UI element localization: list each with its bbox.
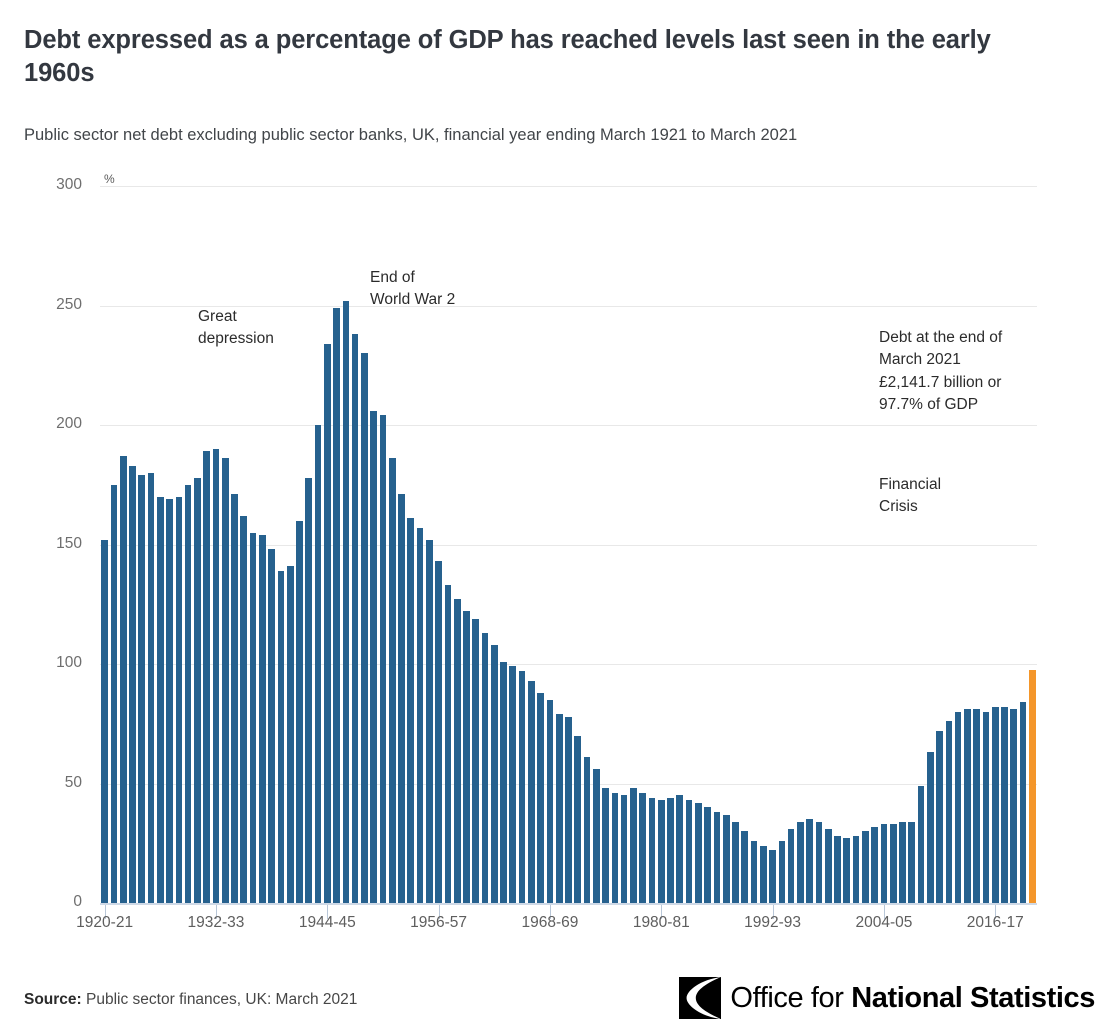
bar-1938-39[interactable] (268, 549, 275, 903)
chart-plot: % 050100150200250300 1920-211932-331944-… (0, 0, 1117, 945)
ons-logo-text: Office for National Statistics (730, 982, 1095, 1015)
bar-1954-55[interactable] (417, 528, 424, 903)
bar-2009-10[interactable] (927, 752, 934, 903)
bar-1951-52[interactable] (389, 458, 396, 903)
bar-1956-57[interactable] (435, 561, 442, 903)
bar-2019-20[interactable] (1020, 702, 1027, 903)
bar-1932-33[interactable] (213, 449, 220, 903)
ons-logo: Office for National Statistics (679, 977, 1095, 1019)
bar-2007-08[interactable] (908, 822, 915, 903)
bar-1963-64[interactable] (500, 662, 507, 903)
bar-1936-37[interactable] (250, 533, 257, 903)
x-axis-tick-1944-45: 1944-45 (299, 914, 356, 932)
annotation-financial-crisis: Financial Crisis (879, 474, 941, 519)
bar-1968-69[interactable] (547, 700, 554, 903)
bar-1977-78[interactable] (630, 788, 637, 903)
bar-1999-00[interactable] (834, 836, 841, 903)
annotation-debt-at-end-of-march-2021: Debt at the end of March 2021 £2,141.7 b… (879, 327, 1002, 417)
bar-1948-49[interactable] (361, 353, 368, 903)
bar-1986-87[interactable] (714, 812, 721, 903)
bar-2005-06[interactable] (890, 824, 897, 903)
bar-1983-84[interactable] (686, 800, 693, 903)
bar-1962-63[interactable] (491, 645, 498, 903)
bar-1927-28[interactable] (166, 499, 173, 903)
y-axis-unit-label: % (104, 172, 115, 186)
bar-1996-97[interactable] (806, 819, 813, 903)
bar-1955-56[interactable] (426, 540, 433, 903)
x-axis-tick-2004-05: 2004-05 (855, 914, 912, 932)
bar-1928-29[interactable] (176, 497, 183, 903)
bar-1926-27[interactable] (157, 497, 164, 903)
bar-1994-95[interactable] (788, 829, 795, 903)
bar-1947-48[interactable] (352, 334, 359, 903)
bar-1965-66[interactable] (519, 671, 526, 903)
bar-1933-34[interactable] (222, 458, 229, 903)
bar-1984-85[interactable] (695, 803, 702, 903)
bar-1979-80[interactable] (649, 798, 656, 903)
bar-1942-43[interactable] (305, 478, 312, 903)
bar-1966-67[interactable] (528, 681, 535, 903)
bar-1925-26[interactable] (148, 473, 155, 903)
bar-1934-35[interactable] (231, 494, 238, 903)
bar-1950-51[interactable] (380, 415, 387, 903)
bar-2011-12[interactable] (946, 721, 953, 903)
chart-page: Debt expressed as a percentage of GDP ha… (0, 0, 1117, 1028)
bar-1972-73[interactable] (584, 757, 591, 903)
x-axis-line (100, 903, 1037, 905)
y-axis-tick-200: 200 (24, 415, 82, 433)
bar-2014-15[interactable] (973, 709, 980, 903)
y-axis-tick-50: 50 (24, 774, 82, 792)
bar-1961-62[interactable] (482, 633, 489, 903)
bar-2020-21[interactable] (1029, 670, 1036, 904)
bar-2002-03[interactable] (862, 831, 869, 903)
bar-1960-61[interactable] (472, 619, 479, 903)
y-axis-tick-0: 0 (24, 893, 82, 911)
source-text: Public sector finances, UK: March 2021 (82, 991, 358, 1008)
y-axis-tick-150: 150 (24, 535, 82, 553)
ons-logo-icon (679, 977, 721, 1019)
bar-1921-22[interactable] (111, 485, 118, 903)
x-axis-tick-1932-33: 1932-33 (188, 914, 245, 932)
bar-series (100, 186, 1037, 903)
bar-2010-11[interactable] (936, 731, 943, 903)
x-axis-tick-1956-57: 1956-57 (410, 914, 467, 932)
annotation-great-depression: Great depression (198, 306, 274, 351)
bar-1943-44[interactable] (315, 425, 322, 903)
bar-1923-24[interactable] (129, 466, 136, 903)
annotation-end-of-world-war-2: End of World War 2 (370, 267, 455, 312)
bar-1971-72[interactable] (574, 736, 581, 903)
bar-1987-88[interactable] (723, 815, 730, 903)
bar-1970-71[interactable] (565, 717, 572, 903)
bar-1940-41[interactable] (287, 566, 294, 903)
y-axis-tick-300: 300 (24, 176, 82, 194)
bar-1993-94[interactable] (779, 841, 786, 903)
bar-1992-93[interactable] (769, 850, 776, 903)
bar-2006-07[interactable] (899, 822, 906, 903)
bar-2003-04[interactable] (871, 827, 878, 903)
bar-1989-90[interactable] (741, 831, 748, 903)
bar-1935-36[interactable] (240, 516, 247, 903)
bar-2000-01[interactable] (843, 838, 850, 903)
bar-1939-40[interactable] (278, 571, 285, 903)
bar-1957-58[interactable] (445, 585, 452, 903)
bar-1969-70[interactable] (556, 714, 563, 903)
bar-1930-31[interactable] (194, 478, 201, 903)
bar-1981-82[interactable] (667, 798, 674, 903)
bar-1974-75[interactable] (602, 788, 609, 903)
chart-footer: Source: Public sector finances, UK: Marc… (0, 945, 1117, 1028)
x-axis-tick-1980-81: 1980-81 (633, 914, 690, 932)
ons-logo-text-light: Office for (730, 982, 851, 1014)
bar-1941-42[interactable] (296, 521, 303, 903)
x-axis-tick-1968-69: 1968-69 (521, 914, 578, 932)
plot-area (100, 186, 1037, 903)
bar-2012-13[interactable] (955, 712, 962, 903)
y-axis-tick-100: 100 (24, 654, 82, 672)
bar-2015-16[interactable] (983, 712, 990, 903)
bar-1924-25[interactable] (138, 475, 145, 903)
bar-2001-02[interactable] (853, 836, 860, 903)
bar-1990-91[interactable] (751, 841, 758, 903)
bar-2008-09[interactable] (918, 786, 925, 903)
bar-1997-98[interactable] (816, 822, 823, 903)
bar-1952-53[interactable] (398, 494, 405, 903)
bar-1964-65[interactable] (509, 666, 516, 903)
bar-1978-79[interactable] (639, 793, 646, 903)
source-label: Source: (24, 991, 82, 1008)
bar-1944-45[interactable] (324, 344, 331, 903)
source-line: Source: Public sector finances, UK: Marc… (24, 991, 357, 1009)
bar-1931-32[interactable] (203, 451, 210, 903)
bar-2017-18[interactable] (1001, 707, 1008, 903)
bar-2018-19[interactable] (1010, 709, 1017, 903)
bar-1937-38[interactable] (259, 535, 266, 903)
bar-1949-50[interactable] (370, 411, 377, 903)
bar-1998-99[interactable] (825, 829, 832, 903)
bar-1929-30[interactable] (185, 485, 192, 903)
bar-2016-17[interactable] (992, 707, 999, 903)
bar-1920-21[interactable] (101, 540, 108, 903)
bar-1922-23[interactable] (120, 456, 127, 903)
y-axis-tick-250: 250 (24, 296, 82, 314)
bar-1976-77[interactable] (621, 795, 628, 903)
bar-1967-68[interactable] (537, 693, 544, 903)
bar-1945-46[interactable] (333, 308, 340, 903)
bar-1985-86[interactable] (704, 807, 711, 903)
bar-1959-60[interactable] (463, 611, 470, 903)
bar-1958-59[interactable] (454, 599, 461, 903)
bar-1982-83[interactable] (676, 795, 683, 903)
bar-1946-47[interactable] (343, 301, 350, 903)
ons-logo-text-bold: National Statistics (851, 982, 1095, 1014)
x-axis-tick-1992-93: 1992-93 (744, 914, 801, 932)
bar-2004-05[interactable] (881, 824, 888, 903)
bar-2013-14[interactable] (964, 709, 971, 903)
bar-1953-54[interactable] (407, 518, 414, 903)
bar-1980-81[interactable] (658, 800, 665, 903)
x-axis-tick-2016-17: 2016-17 (967, 914, 1024, 932)
x-axis-tick-1920-21: 1920-21 (76, 914, 133, 932)
bar-1988-89[interactable] (732, 822, 739, 903)
bar-1995-96[interactable] (797, 822, 804, 903)
bar-1975-76[interactable] (612, 793, 619, 903)
bar-1991-92[interactable] (760, 846, 767, 903)
bar-1973-74[interactable] (593, 769, 600, 903)
